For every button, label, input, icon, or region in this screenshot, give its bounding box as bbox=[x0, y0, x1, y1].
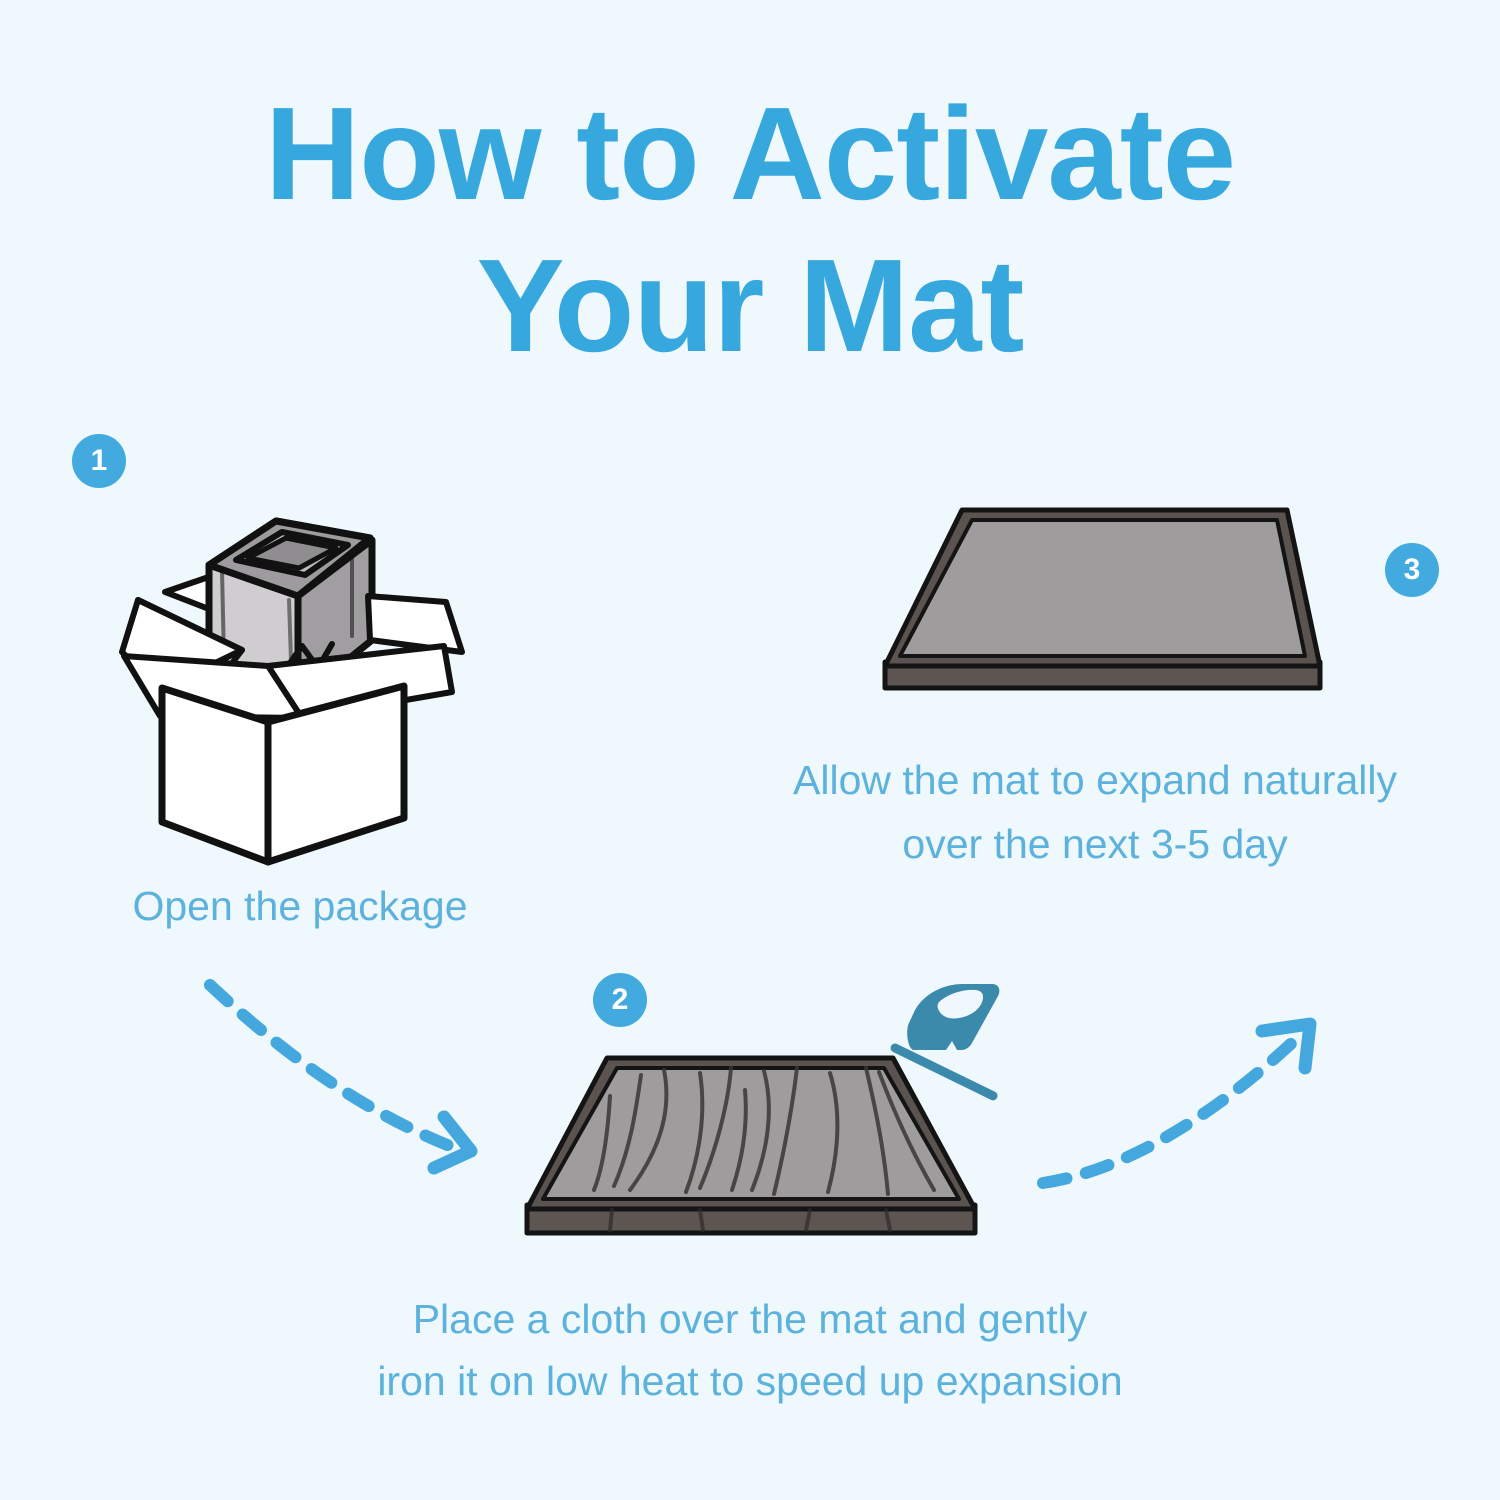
step-caption-1: Open the package bbox=[40, 880, 560, 933]
page-title: How to Activate Your Mat bbox=[0, 78, 1500, 382]
infographic-poster: How to Activate Your Mat bbox=[0, 0, 1500, 1500]
open-box-illustration bbox=[122, 521, 462, 862]
creased-mat-illustration bbox=[527, 1058, 975, 1233]
flat-mat-illustration bbox=[885, 510, 1320, 688]
title-line-2: Your Mat bbox=[0, 230, 1500, 382]
step-badge-1: 1 bbox=[72, 434, 126, 488]
mat-crease-lines bbox=[594, 1068, 934, 1194]
title-line-1: How to Activate bbox=[0, 78, 1500, 230]
arrow-step2-to-step3 bbox=[1043, 1024, 1310, 1183]
arrow-step1-to-step2 bbox=[210, 985, 471, 1168]
step-badge-3: 3 bbox=[1385, 543, 1439, 597]
packed-mat bbox=[209, 521, 372, 700]
step-badge-2: 2 bbox=[593, 973, 647, 1027]
step-caption-2: Place a cloth over the mat and gently ir… bbox=[255, 1288, 1245, 1412]
step-caption-3: Allow the mat to expand naturally over t… bbox=[690, 748, 1500, 876]
iron-icon bbox=[889, 984, 999, 1102]
